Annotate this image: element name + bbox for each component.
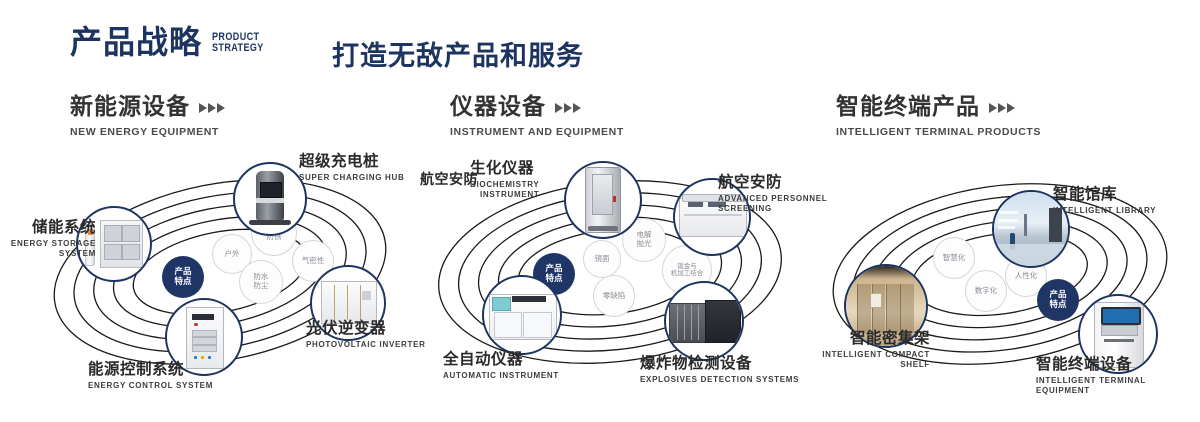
label-cn: 航空安防 [718,174,827,192]
explosives-detector-icon [666,283,742,359]
node-charging-hub[interactable] [233,162,307,236]
label-cn: 储能系统 [0,219,96,237]
page-title-en: PRODUCT STRATEGY [212,32,264,58]
feature-bubble: 零缺陷 [593,275,635,317]
label-energy-control: 能源控制系统 ENERGY CONTROL SYSTEM [88,361,213,391]
label-compact-shelf: 智能密集架 INTELLIGENT COMPACT SHELF [790,330,930,370]
infographic-canvas: 产品战略 PRODUCT STRATEGY 打造无敌产品和服务 新能源设备 NE… [0,0,1200,422]
core-bubble: 产品 特点 [1037,279,1079,321]
triple-chevron-right-icon [555,103,581,113]
label-cn: 智能馆库 [1053,186,1156,204]
label-energy-storage: 储能系统 ENERGY STORAGE SYSTEM [0,219,96,259]
section-title-en: INTELLIGENT TERMINAL PRODUCTS [836,126,1041,138]
section-heading-instrument: 仪器设备 INSTRUMENT AND EQUIPMENT [450,96,624,138]
core-bubble: 产品 特点 [162,256,204,298]
page-title: 产品战略 PRODUCT STRATEGY [70,26,275,58]
biochemistry-scanner-icon [566,163,640,237]
label-en: INTELLIGENT TERMINAL EQUIPMENT [1036,376,1200,396]
label-en: PHOTOVOLTAIC INVERTER [306,340,426,350]
label-biochemistry-instrument: 生化仪器 BIOCHEMISTRY INSTRUMENT [470,160,539,200]
triple-chevron-right-icon [199,103,225,113]
label-en: EXPLOSIVES DETECTION SYSTEMS [640,375,799,385]
label-en: ENERGY CONTROL SYSTEM [88,381,213,391]
label-en: BIOCHEMISTRY INSTRUMENT [470,180,539,200]
section-heading-new-energy: 新能源设备 NEW ENERGY EQUIPMENT [70,96,225,138]
charging-pile-icon [235,164,305,234]
label-cn: 智能终端设备 [1036,356,1200,374]
label-en: INTELLIGENT COMPACT SHELF [790,350,930,370]
section-title-cn: 仪器设备 [450,96,546,119]
label-explosives-detection: 爆炸物检测设备 EXPLOSIVES DETECTION SYSTEMS [640,355,799,385]
label-intelligent-library: 智能馆库 INTELLIGENT LIBRARY [1053,186,1156,216]
label-terminal-equipment: 智能终端设备 INTELLIGENT TERMINAL EQUIPMENT [1036,356,1200,396]
page-title-cn: 产品战略 [70,26,202,58]
section-title-en: INSTRUMENT AND EQUIPMENT [450,126,624,138]
triple-chevron-right-icon [989,103,1015,113]
label-en: AUTOMATIC INSTRUMENT [443,371,559,381]
node-biochemistry-instrument[interactable] [564,161,642,239]
label-en: INTELLIGENT LIBRARY [1053,206,1156,216]
label-cn: 超级充电桩 [299,153,405,171]
label-en: ADVANCED PERSONNEL SCREENING [718,194,827,214]
label-cn: 航空安防 [406,172,478,188]
section-title-cn: 新能源设备 [70,96,190,119]
section-title-cn: 智能终端产品 [836,96,980,119]
label-aviation-security-left: 航空安防 [406,172,478,188]
section-title-en: NEW ENERGY EQUIPMENT [70,126,225,138]
label-charging-hub: 超级充电桩 SUPER CHARGING HUB [299,153,405,183]
label-cn: 光伏逆变器 [306,320,426,338]
section-heading-intelligent-terminal: 智能终端产品 INTELLIGENT TERMINAL PRODUCTS [836,96,1041,138]
feature-bubble: 防水 防尘 [239,260,283,304]
label-cn: 全自动仪器 [443,351,559,369]
label-cn: 智能密集架 [790,330,930,348]
label-en: ENERGY STORAGE SYSTEM [0,239,96,259]
label-cn: 能源控制系统 [88,361,213,379]
label-en: SUPER CHARGING HUB [299,173,405,183]
page-subtitle: 打造无敌产品和服务 [332,34,584,73]
automatic-instrument-icon [484,277,560,353]
label-automatic-instrument: 全自动仪器 AUTOMATIC INSTRUMENT [443,351,559,381]
label-cn: 爆炸物检测设备 [640,355,799,373]
feature-bubble: 镜面 [583,240,621,278]
label-aviation-screening: 航空安防 ADVANCED PERSONNEL SCREENING [718,174,827,214]
node-explosives-detection[interactable] [664,281,744,361]
node-automatic-instrument[interactable] [482,275,562,355]
feature-bubble: 数字化 [965,270,1007,312]
label-photovoltaic-inverter: 光伏逆变器 PHOTOVOLTAIC INVERTER [306,320,426,350]
feature-bubble: 智慧化 [933,237,975,279]
label-cn: 生化仪器 [470,160,539,178]
